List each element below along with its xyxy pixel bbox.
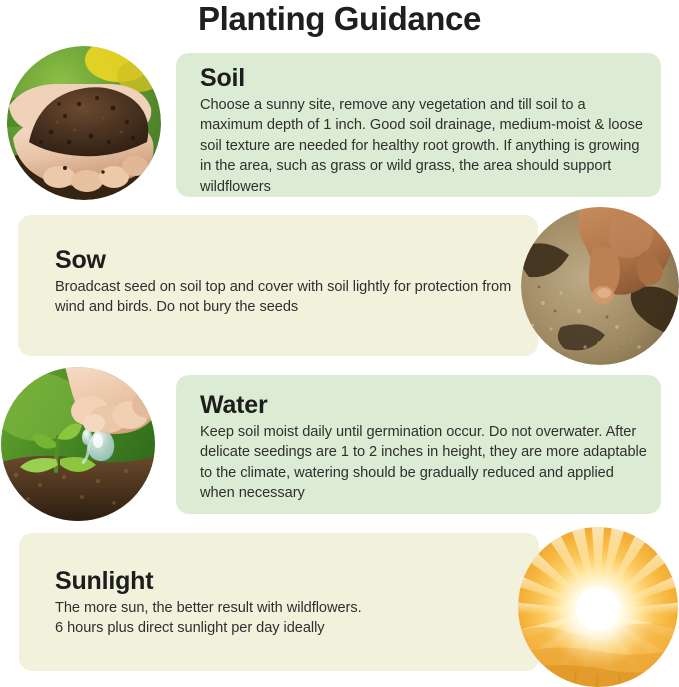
- watering-seedling-photo: [0, 367, 158, 522]
- card-sunlight-body: The more sun, the better result with wil…: [55, 598, 515, 639]
- card-sunlight-text-block: Sunlight The more sun, the better result…: [55, 567, 515, 639]
- card-water-body: Keep soil moist daily until germination …: [200, 422, 650, 504]
- card-sow-text-block: Sow Broadcast seed on soil top and cover…: [55, 246, 520, 318]
- hand-sowing-seed-photo: [521, 207, 679, 365]
- page-title: Planting Guidance: [0, 0, 679, 38]
- hands-holding-soil-photo: [7, 46, 161, 200]
- card-sow-body: Broadcast seed on soil top and cover wit…: [55, 277, 520, 318]
- card-water-heading: Water: [200, 391, 650, 420]
- card-sow-heading: Sow: [55, 246, 520, 275]
- card-soil-heading: Soil: [200, 64, 650, 93]
- sun-burst-photo: [518, 527, 678, 687]
- card-water-text-block: Water Keep soil moist daily until germin…: [200, 391, 650, 504]
- card-soil-text-block: Soil Choose a sunny site, remove any veg…: [200, 64, 650, 197]
- card-sunlight-heading: Sunlight: [55, 567, 515, 596]
- card-soil-body: Choose a sunny site, remove any vegetati…: [200, 95, 650, 197]
